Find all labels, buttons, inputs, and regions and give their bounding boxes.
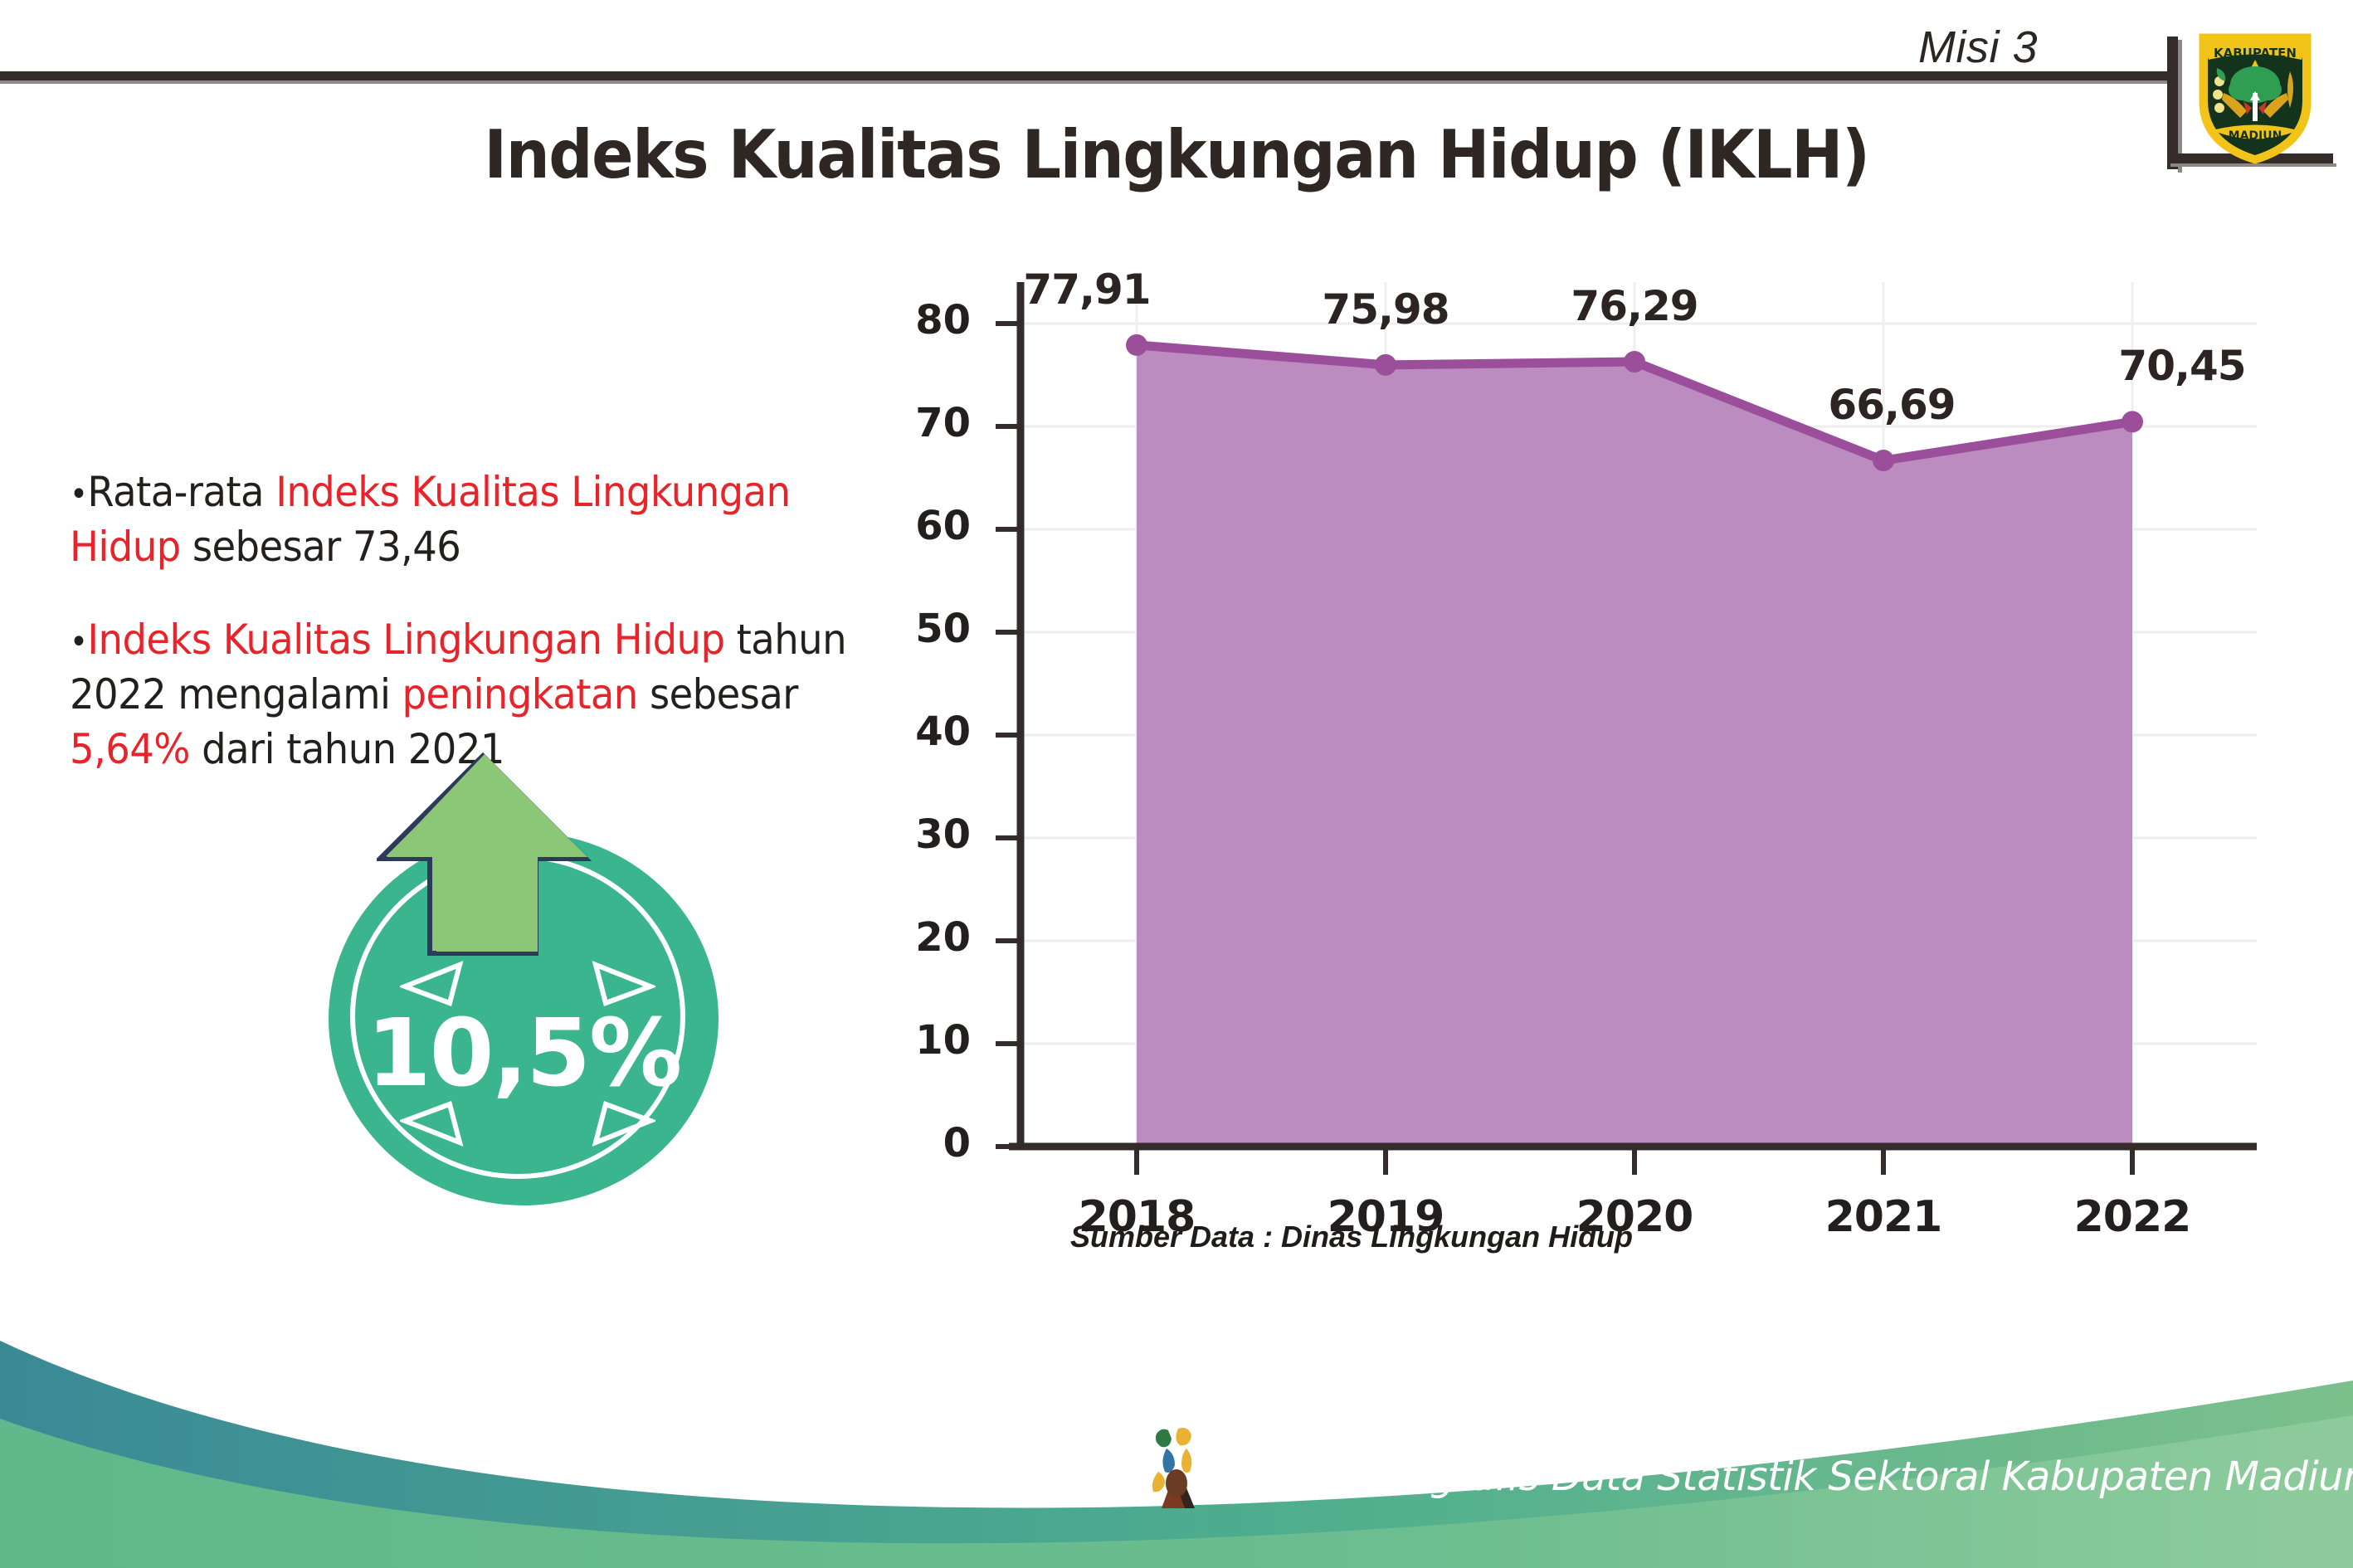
mission-label: Misi 3 bbox=[1918, 22, 2038, 73]
bullet-text: sebesar 73,46 bbox=[181, 523, 461, 571]
y-axis-tick-label: 60 bbox=[871, 503, 971, 549]
bullet-marker: • bbox=[70, 623, 87, 661]
data-point-label: 77,91 bbox=[987, 265, 1186, 314]
y-axis-tick-label: 80 bbox=[871, 297, 971, 343]
footer-caption: Media Infografis Data Statistik Sektoral… bbox=[1226, 1454, 2353, 1500]
y-axis-tick-label: 0 bbox=[871, 1120, 971, 1166]
infographic-slide: Misi 3 KABUPATEN MADIUN Indek bbox=[0, 0, 2353, 1568]
data-point-marker bbox=[1873, 450, 1894, 471]
increase-badge: 10,5% bbox=[314, 751, 753, 1207]
bullet-emphasis: Indeks Kualitas Lingkungan Hidup bbox=[87, 616, 724, 664]
x-axis-tick-label: 2021 bbox=[1788, 1192, 1979, 1242]
iklh-area-chart: 01020304050607080 20182019202020212022 7… bbox=[979, 274, 2273, 1203]
y-axis-tick-label: 70 bbox=[871, 400, 971, 446]
y-axis-tick-label: 30 bbox=[871, 811, 971, 858]
data-point-marker bbox=[1375, 354, 1396, 376]
bullet-text: sebesar bbox=[638, 670, 798, 718]
x-axis-tick-label: 2022 bbox=[2037, 1192, 2228, 1242]
data-point-label: 70,45 bbox=[2083, 342, 2282, 390]
page-title: Indeks Kualitas Lingkungan Hidup (IKLH) bbox=[82, 116, 2270, 193]
y-axis-tick-label: 10 bbox=[871, 1017, 971, 1064]
data-point-marker bbox=[1126, 334, 1147, 356]
y-axis-tick-label: 20 bbox=[871, 914, 971, 961]
data-point-label: 76,29 bbox=[1535, 282, 1734, 330]
source-note: Sumber Data : Dinas Lingkungan Hidup bbox=[1070, 1220, 1633, 1254]
bullet-emphasis: peningkatan bbox=[402, 670, 638, 718]
header-rule bbox=[0, 71, 2174, 80]
bullet-marker: • bbox=[70, 475, 87, 514]
bullet-emphasis: 5,64% bbox=[70, 725, 190, 773]
media-infografis-logo-icon bbox=[1143, 1424, 1223, 1515]
y-axis-tick-label: 40 bbox=[871, 709, 971, 755]
list-item: •Rata-rata Indeks Kualitas Lingkungan Hi… bbox=[70, 465, 903, 574]
data-point-marker bbox=[2122, 411, 2143, 432]
data-point-marker bbox=[1624, 351, 1645, 373]
bullet-text: Rata-rata bbox=[87, 468, 275, 516]
svg-text:KABUPATEN: KABUPATEN bbox=[2214, 46, 2297, 61]
y-axis-tick-label: 50 bbox=[871, 606, 971, 652]
up-arrow-icon bbox=[377, 751, 592, 958]
data-point-label: 75,98 bbox=[1286, 285, 1485, 334]
data-point-label: 66,69 bbox=[1792, 381, 1991, 429]
badge-value: 10,5% bbox=[314, 1000, 733, 1108]
chart-canvas bbox=[979, 274, 2273, 1203]
footer-wave: Media Infografis Data Statistik Sektoral… bbox=[0, 1294, 2353, 1568]
